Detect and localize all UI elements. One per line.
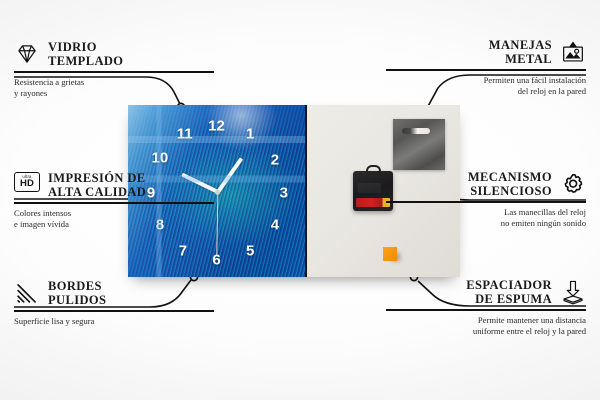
clock-numeral-4: 4	[271, 218, 279, 233]
callout-subtitle: Permite mantener una distancia uniforme …	[386, 311, 586, 338]
callout-title: MECANISMOSILENCIOSO	[468, 170, 552, 198]
callout-header: MECANISMOSILENCIOSO	[386, 170, 586, 201]
clock-numeral-10: 10	[152, 151, 169, 166]
callout-subtitle: Permiten una fácil instalación del reloj…	[386, 71, 586, 98]
clock-numeral-11: 11	[177, 127, 193, 142]
clock-numeral-2: 2	[271, 153, 279, 168]
clock-numeral-1: 1	[246, 127, 254, 142]
callout-header: ESPACIADORDE ESPUMA	[386, 278, 586, 309]
callout-header: ultra HD IMPRESIÓN DEALTA CALIDAD	[14, 171, 214, 202]
callout-header: VIDRIOTEMPLADO	[14, 40, 214, 71]
ultra-hd-icon: ultra HD	[14, 172, 40, 198]
infographic-canvas: 12 1 2 3 4 5 6 7 8 9 10 11	[0, 0, 600, 400]
foam-spacer	[383, 247, 397, 261]
polished-edges-icon	[14, 280, 40, 306]
clock-numeral-6: 6	[212, 252, 220, 267]
clock-minute-hand	[216, 157, 243, 193]
callout-manejas-metal: MANEJASMETAL Permiten una fácil instalac…	[386, 38, 586, 97]
callout-title: VIDRIOTEMPLADO	[48, 40, 123, 68]
hanger-slot	[402, 128, 430, 134]
clock-numeral-5: 5	[246, 244, 254, 259]
metal-hanger-plate	[393, 119, 445, 170]
battery-red	[356, 198, 390, 207]
callout-bordes-pulidos: BORDESPULIDOS Superficie lisa y segura	[14, 279, 214, 327]
callout-espaciador-espuma: ESPACIADORDE ESPUMA Permite mantener una…	[386, 278, 586, 337]
callout-subtitle: Resistencia a grietas y rayones	[14, 73, 214, 100]
callout-title: ESPACIADORDE ESPUMA	[466, 278, 552, 306]
diamond-icon	[14, 41, 40, 67]
callout-header: BORDESPULIDOS	[14, 279, 214, 310]
callout-title: IMPRESIÓN DEALTA CALIDAD	[48, 171, 146, 199]
movement-housing-detail	[358, 183, 381, 193]
callout-subtitle: Superficie lisa y segura	[14, 312, 214, 327]
callout-mecanismo-silencioso: MECANISMOSILENCIOSO Las manecillas del r…	[386, 170, 586, 229]
framed-picture-icon	[560, 39, 586, 65]
clock-numeral-12: 12	[208, 118, 225, 133]
callout-subtitle: Colores intensos e imagen vívida	[14, 204, 214, 231]
clock-second-hand	[216, 192, 218, 255]
callout-vidrio-templado: VIDRIOTEMPLADO Resistencia a grietas y r…	[14, 40, 214, 99]
callout-subtitle: Las manecillas del reloj no emiten ningú…	[386, 203, 586, 230]
foam-spacer-icon	[560, 279, 586, 305]
gear-icon	[560, 171, 586, 197]
callout-header: MANEJASMETAL	[386, 38, 586, 69]
ultra-hd-icon-main-label: HD	[20, 179, 34, 189]
callout-title: BORDESPULIDOS	[48, 279, 106, 307]
callout-impresion-alta-calidad: ultra HD IMPRESIÓN DEALTA CALIDAD Colore…	[14, 171, 214, 230]
movement-hanging-loop	[366, 165, 381, 173]
callout-title: MANEJASMETAL	[489, 38, 552, 66]
clock-center-hub	[215, 190, 220, 195]
clock-numeral-3: 3	[280, 185, 288, 200]
clock-numeral-7: 7	[179, 244, 187, 259]
